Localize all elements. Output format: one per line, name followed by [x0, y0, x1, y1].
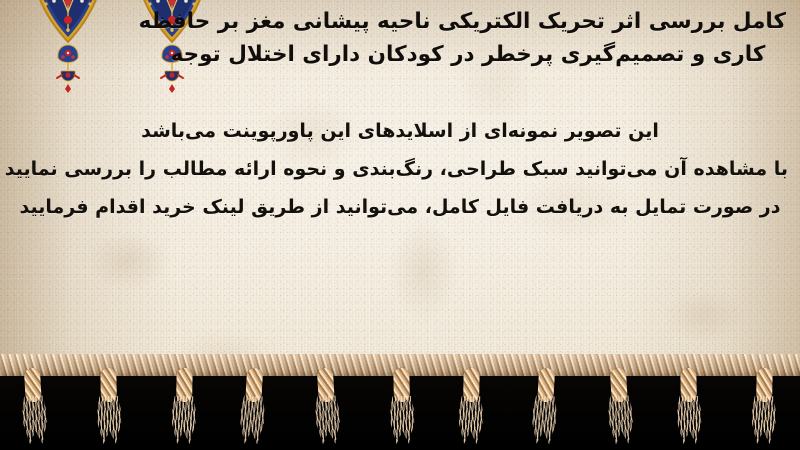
- slide-title-line-1: کامل بررسی اثر تحریک الکتریکی ناحیه پیشا…: [150, 5, 786, 38]
- slide-text-layer: کامل بررسی اثر تحریک الکتریکی ناحیه پیشا…: [0, 0, 800, 450]
- slide-body-line-3: در صورت تمایل به دریافت فایل کامل، می‌تو…: [12, 188, 788, 226]
- slide-title-line-2: کاری و تصمیم‌گیری پرخطر در کودکان دارای …: [150, 38, 786, 71]
- slide-body-line-2: با مشاهده آن می‌توانید سبک طراحی، رنگ‌بن…: [12, 150, 788, 188]
- slide-canvas: کامل بررسی اثر تحریک الکتریکی ناحیه پیشا…: [0, 0, 800, 450]
- slide-body-line-1: این تصویر نمونه‌ای از اسلایدهای این پاور…: [12, 112, 788, 150]
- slide-title: کامل بررسی اثر تحریک الکتریکی ناحیه پیشا…: [150, 5, 786, 71]
- slide-body: این تصویر نمونه‌ای از اسلایدهای این پاور…: [12, 112, 788, 226]
